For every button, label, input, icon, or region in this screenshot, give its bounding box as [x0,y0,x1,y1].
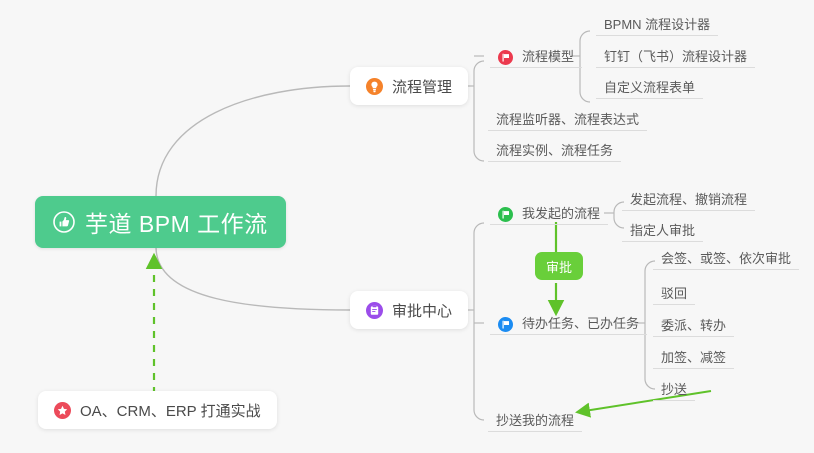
tag-node-approval[interactable]: 审批 [535,252,583,280]
node-label-designated-approver: 指定人审批 [630,220,695,239]
node-label-process-model: 流程模型 [522,46,574,65]
node-bpmn-designer[interactable]: BPMN 流程设计器 [596,10,718,36]
edge-root-to-approval-center [156,247,350,310]
node-label-reject: 驳回 [661,283,687,302]
node-start-cancel-process[interactable]: 发起流程、撤销流程 [622,185,755,211]
node-label-countersign-orsign-sequential: 会签、或签、依次审批 [661,248,791,267]
node-label-delegate-transfer: 委派、转办 [661,315,726,334]
node-designated-approver[interactable]: 指定人审批 [622,216,703,242]
node-label-start-cancel-process: 发起流程、撤销流程 [630,189,747,208]
node-cc-to-me-processes[interactable]: 抄送我的流程 [488,406,582,432]
node-delegate-transfer[interactable]: 委派、转办 [653,311,734,337]
edge-approval-center-bracket [474,223,484,420]
mindmap-canvas: 芋道 BPM 工作流 流程管理 流程模型 BPMN 流程设计器 钉钉（飞书 [0,0,814,453]
node-label-add-remove-sign: 加签、减签 [661,347,726,366]
node-label-custom-process-form: 自定义流程表单 [604,77,695,96]
root-label: 芋道 BPM 工作流 [85,205,268,239]
star-icon [54,402,71,419]
branch-label-approval-center: 审批中心 [392,300,452,321]
flag-icon [498,317,513,332]
node-todo-done-tasks[interactable]: 待办任务、已办任务 [490,309,647,335]
edge-process-management-bracket [474,61,484,161]
node-custom-process-form[interactable]: 自定义流程表单 [596,73,703,99]
floating-note-label: OA、CRM、ERP 打通实战 [80,400,261,421]
node-label-my-started-processes: 我发起的流程 [522,203,600,222]
node-countersign-orsign-sequential[interactable]: 会签、或签、依次审批 [653,244,799,270]
node-my-started-processes[interactable]: 我发起的流程 [490,199,608,225]
tag-label-approval: 审批 [546,257,572,276]
node-carbon-copy[interactable]: 抄送 [653,375,695,401]
node-process-listener-expression[interactable]: 流程监听器、流程表达式 [488,105,647,131]
flag-icon [498,50,513,65]
node-add-remove-sign[interactable]: 加签、减签 [653,343,734,369]
node-label-bpmn-designer: BPMN 流程设计器 [604,14,710,33]
branch-node-approval-center[interactable]: 审批中心 [350,291,468,329]
thumbs-up-icon [53,211,75,233]
floating-note-node[interactable]: OA、CRM、ERP 打通实战 [38,391,277,429]
node-process-instance-task[interactable]: 流程实例、流程任务 [488,136,621,162]
node-process-model[interactable]: 流程模型 [490,42,582,68]
node-dingtalk-feishu-designer[interactable]: 钉钉（飞书）流程设计器 [596,42,755,68]
lightbulb-icon [366,78,383,95]
node-reject[interactable]: 驳回 [653,279,695,305]
clipboard-icon [366,302,383,319]
root-node[interactable]: 芋道 BPM 工作流 [35,196,286,248]
branch-label-process-management: 流程管理 [392,76,452,97]
node-label-process-listener-expression: 流程监听器、流程表达式 [496,109,639,128]
edge-root-to-process-management [156,86,350,196]
node-label-carbon-copy: 抄送 [661,379,687,398]
flag-icon [498,207,513,222]
node-label-todo-done-tasks: 待办任务、已办任务 [522,313,639,332]
node-label-cc-to-me-processes: 抄送我的流程 [496,410,574,429]
node-label-dingtalk-feishu-designer: 钉钉（飞书）流程设计器 [604,46,747,65]
node-label-process-instance-task: 流程实例、流程任务 [496,140,613,159]
branch-node-process-management[interactable]: 流程管理 [350,67,468,105]
